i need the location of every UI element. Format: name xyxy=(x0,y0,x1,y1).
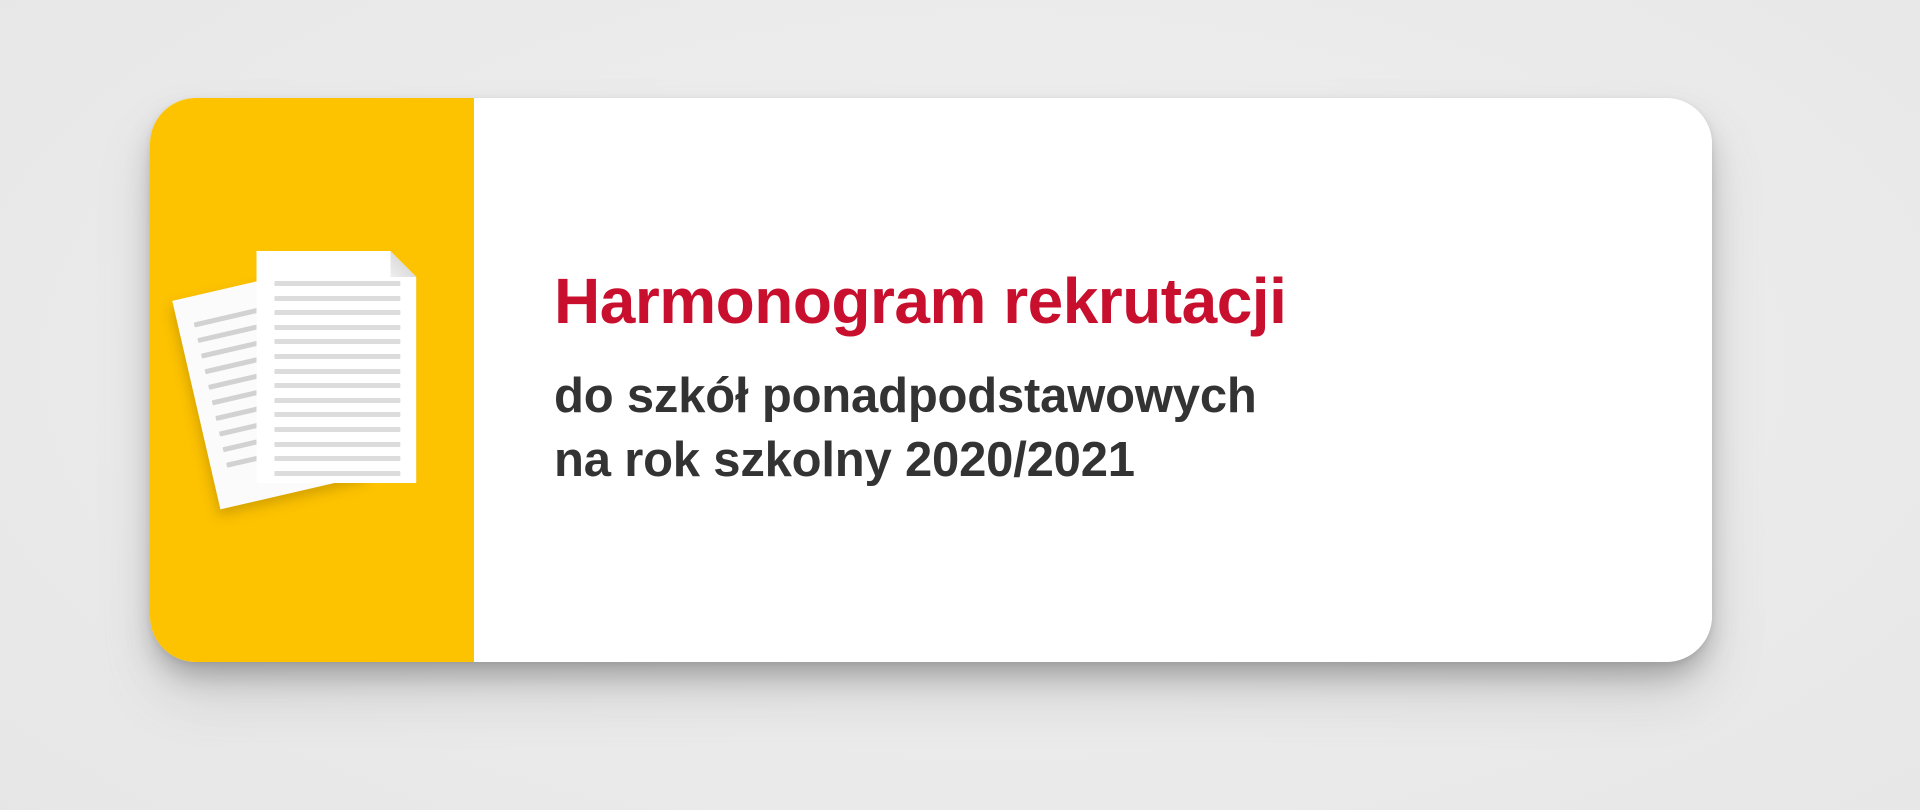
doc-text-line xyxy=(274,442,400,447)
doc-text-line xyxy=(274,412,400,417)
doc-text-line xyxy=(274,339,400,344)
doc-text-line xyxy=(274,325,400,330)
doc-text-line xyxy=(274,296,400,301)
recruitment-schedule-banner: Harmonogram rekrutacji do szkół ponadpod… xyxy=(150,98,1712,662)
banner-text-panel: Harmonogram rekrutacji do szkół ponadpod… xyxy=(474,98,1712,662)
banner-subtitle: do szkół ponadpodstawowych na rok szkoln… xyxy=(554,365,1652,492)
doc-text-line xyxy=(274,310,400,315)
doc-text-line xyxy=(274,383,400,388)
banner-subtitle-line-2: na rok szkolny 2020/2021 xyxy=(554,429,1652,493)
document-sheet-front-icon xyxy=(256,251,416,483)
doc-text-line xyxy=(274,369,400,374)
banner-subtitle-line-1: do szkół ponadpodstawowych xyxy=(554,365,1652,429)
doc-text-line xyxy=(274,354,400,359)
doc-text-line xyxy=(274,471,400,476)
doc-text-line xyxy=(274,281,400,286)
doc-text-line xyxy=(274,456,400,461)
banner-icon-panel xyxy=(150,98,474,662)
banner-headline: Harmonogram rekrutacji xyxy=(554,268,1652,335)
document-folded-corner-icon xyxy=(390,251,416,277)
documents-stack-icon xyxy=(192,251,422,509)
doc-text-line xyxy=(274,427,400,432)
doc-text-line xyxy=(274,398,400,403)
